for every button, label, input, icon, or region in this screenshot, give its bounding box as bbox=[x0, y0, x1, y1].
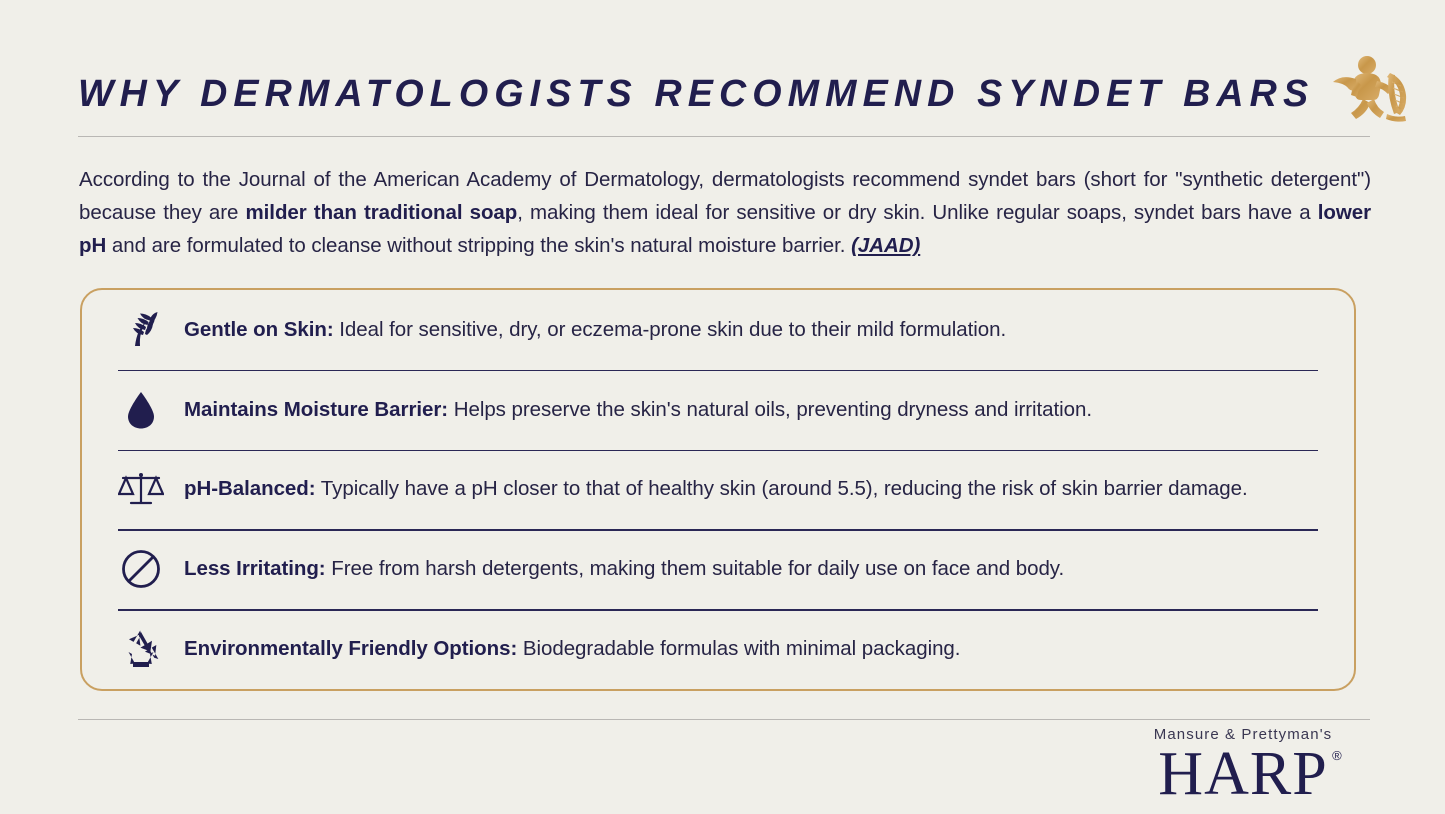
benefits-list: Gentle on Skin: Ideal for sensitive, dry… bbox=[82, 290, 1354, 689]
water-droplet-icon bbox=[114, 383, 168, 437]
footer-logo: Mansure & Prettyman's HARP® bbox=[1113, 727, 1373, 803]
benefit-body: Typically have a pH closer to that of he… bbox=[316, 477, 1248, 500]
benefit-text: Environmentally Friendly Options: Biodeg… bbox=[184, 635, 960, 663]
recycling-symbol-icon bbox=[114, 622, 168, 676]
intro-text-part-3: and are formulated to cleanse without st… bbox=[106, 234, 851, 257]
list-item: pH-Balanced: Typically have a pH closer … bbox=[110, 450, 1326, 530]
benefit-body: Biodegradable formulas with minimal pack… bbox=[517, 637, 960, 660]
benefit-lead: Maintains Moisture Barrier: bbox=[184, 398, 448, 421]
leaf-branch-icon bbox=[114, 303, 168, 357]
page-title: WHY DERMATOLOGISTS RECOMMEND SYNDET BARS bbox=[78, 75, 1314, 113]
prohibition-sign-icon bbox=[114, 542, 168, 596]
intro-text-part-2: , making them ideal for sensitive or dry… bbox=[517, 201, 1317, 224]
header: WHY DERMATOLOGISTS RECOMMEND SYNDET BARS bbox=[78, 56, 1370, 131]
benefit-lead: pH-Balanced: bbox=[184, 477, 316, 500]
benefit-text: pH-Balanced: Typically have a pH closer … bbox=[184, 475, 1248, 503]
benefit-body: Ideal for sensitive, dry, or eczema-pron… bbox=[334, 318, 1007, 341]
footer-wordmark-text: HARP bbox=[1158, 740, 1327, 808]
list-item: Environmentally Friendly Options: Biodeg… bbox=[110, 609, 1326, 689]
infographic-page: WHY DERMATOLOGISTS RECOMMEND SYNDET BARS bbox=[0, 0, 1445, 814]
benefit-body: Helps preserve the skin's natural oils, … bbox=[448, 398, 1092, 421]
benefit-text: Gentle on Skin: Ideal for sensitive, dry… bbox=[184, 316, 1006, 344]
intro-paragraph: According to the Journal of the American… bbox=[79, 163, 1371, 262]
footer-wordmark: HARP® bbox=[1158, 745, 1327, 804]
list-item: Maintains Moisture Barrier: Helps preser… bbox=[110, 370, 1326, 450]
benefits-card: Gentle on Skin: Ideal for sensitive, dry… bbox=[80, 288, 1356, 691]
list-item: Gentle on Skin: Ideal for sensitive, dry… bbox=[110, 290, 1326, 370]
footer-divider bbox=[78, 719, 1370, 720]
benefit-lead: Less Irritating: bbox=[184, 557, 326, 580]
balance-scales-icon bbox=[114, 462, 168, 516]
cherub-with-harp-icon bbox=[1327, 52, 1423, 136]
registered-trademark-icon: ® bbox=[1332, 749, 1343, 762]
citation-link-jaad[interactable]: (JAAD) bbox=[851, 234, 920, 257]
benefit-lead: Environmentally Friendly Options: bbox=[184, 637, 517, 660]
benefit-lead: Gentle on Skin: bbox=[184, 318, 334, 341]
benefit-text: Maintains Moisture Barrier: Helps preser… bbox=[184, 396, 1092, 424]
header-divider bbox=[78, 136, 1370, 137]
benefit-text: Less Irritating: Free from harsh deterge… bbox=[184, 555, 1064, 583]
intro-emphasis-1: milder than traditional soap bbox=[245, 201, 517, 224]
list-item: Less Irritating: Free from harsh deterge… bbox=[110, 529, 1326, 609]
benefit-body: Free from harsh detergents, making them … bbox=[326, 557, 1065, 580]
